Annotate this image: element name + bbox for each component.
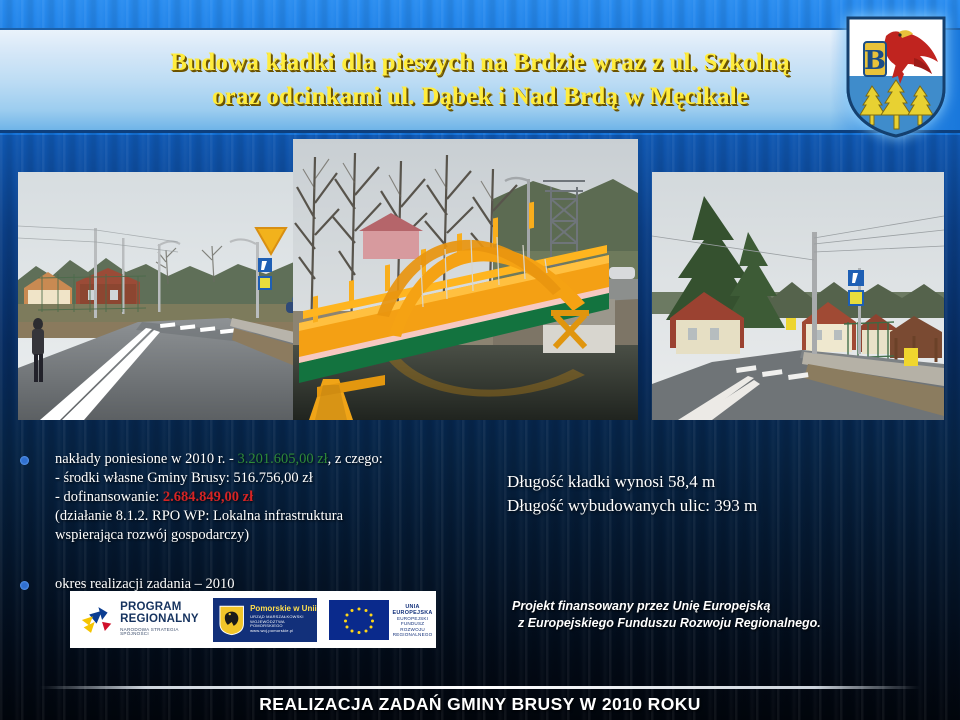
financing-note-line-1: Projekt finansowany przez Unię Europejsk… [512, 598, 821, 615]
costs-own-funds: - środki własne Gminy Brusy: 516.756,00 … [55, 469, 383, 488]
svg-text:B: B [864, 46, 886, 76]
slide-title-line-2: oraz odcinkami ul. Dąbek i Nad Brdą w Mę… [212, 80, 748, 114]
pomorskie-title: Pomorskie w Unii [250, 605, 317, 613]
financing-note-line-2: z Europejskiego Funduszu Rozwoju Regiona… [512, 615, 821, 632]
pomorskie-line-2: WOJEWÓDZTWA POMORSKIEGO [250, 620, 317, 628]
logo-program-regionalny: PROGRAM REGIONALNY NARODOWA STRATEGIA SP… [70, 591, 202, 648]
slide-title-banner: Budowa kładki dla pieszych na Brdzie wra… [0, 28, 960, 133]
unia-europejska-text: UNIA EUROPEJSKA EUROPEJSKI FUNDUSZ ROZWO… [389, 604, 436, 638]
footer-title: REALIZACJA ZADAŃ GMINY BRUSY W 2010 ROKU [0, 694, 960, 715]
unia-europejska-line-2: EUROPEJSKI FUNDUSZ [389, 616, 436, 627]
costs-label-2: , z czego: [328, 451, 383, 467]
program-regionalny-text: PROGRAM REGIONALNY NARODOWA STRATEGIA SP… [120, 602, 202, 637]
costs-label-1: nakłady poniesione w 2010 r. - [55, 451, 237, 467]
slide-title-line-1: Budowa kładki dla pieszych na Brdzie wra… [170, 46, 789, 80]
program-regionalny-star-icon [80, 602, 113, 638]
unia-europejska-line-3: ROZWOJU REGIONALNEGO [389, 627, 436, 638]
pomorskie-crest-icon [218, 604, 245, 636]
presentation-slide: Budowa kładki dla pieszych na Brdzie wra… [0, 0, 960, 720]
logo-unia-europejska: UNIA EUROPEJSKA EUROPEJSKI FUNDUSZ ROZWO… [329, 591, 436, 648]
photo-road-right [652, 172, 944, 420]
bullet-spacer [14, 545, 484, 575]
program-regionalny-subtitle: NARODOWA STRATEGIA SPÓJNOŚCI [120, 628, 202, 637]
project-stats: Długość kładki wynosi 58,4 m Długość wyb… [507, 470, 757, 518]
costs-cofinance-label: - dofinansowanie: [55, 489, 163, 505]
financing-note: Projekt finansowany przez Unię Europejsk… [512, 598, 821, 632]
costs-measure-line-1: (działanie 8.1.2. RPO WP: Lokalna infras… [55, 507, 383, 526]
costs-bullet-list: nakłady poniesione w 2010 r. - 3.201.605… [14, 450, 484, 594]
photo-footbridge-center [293, 139, 638, 420]
program-regionalny-line-2: REGIONALNY [120, 614, 202, 626]
list-item: nakłady poniesione w 2010 r. - 3.201.605… [14, 450, 484, 545]
footer-divider [40, 686, 920, 689]
pomorskie-text: Pomorskie w Unii URZĄD MARSZAŁKOWSKI WOJ… [250, 605, 317, 633]
bullet-text-costs: nakłady poniesione w 2010 r. - 3.201.605… [55, 450, 383, 545]
coat-of-arms-icon: B [842, 14, 950, 140]
stat-streets-length: Długość wybudowanych ulic: 393 m [507, 494, 757, 518]
pomorskie-line-3: www.woj.pomorskie.pl [250, 629, 317, 633]
logo-pomorskie: Pomorskie w Unii URZĄD MARSZAŁKOWSKI WOJ… [213, 598, 317, 642]
costs-measure-line-2: wspierająca rozwój gospodarczy) [55, 526, 383, 545]
amount-total: 3.201.605,00 zł [237, 451, 327, 467]
eu-funding-logo-strip: PROGRAM REGIONALNY NARODOWA STRATEGIA SP… [70, 591, 436, 648]
amount-cofinancing: 2.684.849,00 zł [163, 489, 253, 505]
bullet-dot-icon [20, 456, 29, 465]
bullet-dot-icon [20, 581, 29, 590]
stat-footbridge-length: Długość kładki wynosi 58,4 m [507, 470, 757, 494]
eu-flag-icon [329, 600, 389, 640]
unia-europejska-line-1: UNIA EUROPEJSKA [389, 604, 436, 616]
